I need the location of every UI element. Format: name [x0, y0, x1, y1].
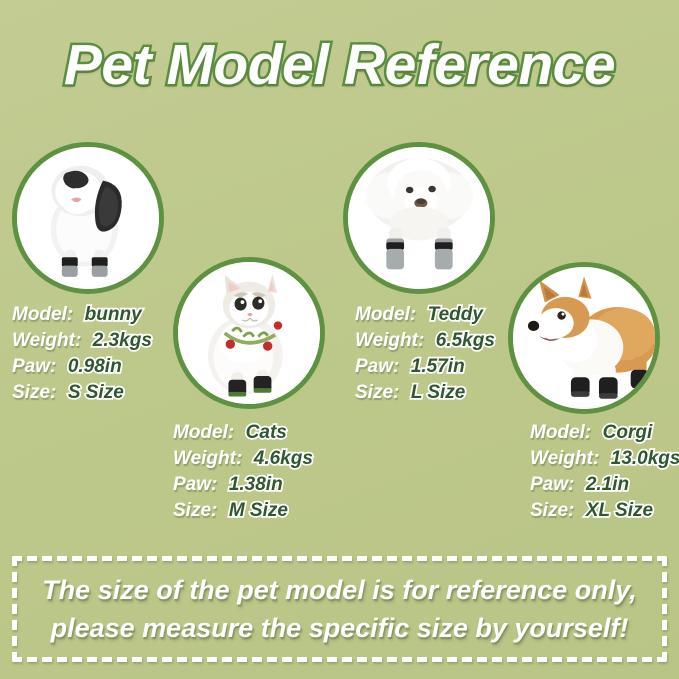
- spec-value-weight: 13.0kgs: [611, 446, 679, 472]
- pet-model-reference-infographic: Pet Model Reference: [0, 0, 679, 679]
- spec-label-size: Size:: [355, 380, 399, 406]
- disclaimer-line-1: The size of the pet model is for referen…: [42, 571, 637, 609]
- spec-row-paw: Paw: 2.1in: [530, 472, 679, 498]
- spec-value-paw: 0.98in: [68, 354, 122, 380]
- spec-block-teddy: Model: Teddy Weight: 6.5kgs Paw: 1.57in …: [355, 302, 565, 406]
- spec-label-size: Size:: [173, 498, 217, 524]
- disclaimer-note: The size of the pet model is for referen…: [12, 556, 667, 662]
- spec-label-paw: Paw:: [530, 472, 574, 498]
- spec-row-size: Size: S Size: [12, 380, 222, 406]
- spec-value-weight: 6.5kgs: [436, 328, 495, 354]
- spec-block-corgi: Model: Corgi Weight: 13.0kgs Paw: 2.1in …: [530, 420, 679, 524]
- spec-label-paw: Paw:: [355, 354, 399, 380]
- spec-value-model: bunny: [85, 302, 142, 328]
- spec-value-size: S Size: [68, 380, 124, 406]
- spec-block-bunny: Model: bunny Weight: 2.3kgs Paw: 0.98in …: [12, 302, 222, 406]
- spec-label-model: Model:: [355, 302, 416, 328]
- spec-block-cats: Model: Cats Weight: 4.6kgs Paw: 1.38in S…: [173, 420, 383, 524]
- spec-row-size: Size: XL Size: [530, 498, 679, 524]
- spec-row-weight: Weight: 6.5kgs: [355, 328, 565, 354]
- bunny-photo-icon: [17, 147, 159, 289]
- spec-row-model: Model: Corgi: [530, 420, 679, 446]
- spec-label-model: Model:: [173, 420, 234, 446]
- disclaimer-line-2: please measure the specific size by your…: [51, 609, 629, 647]
- spec-value-model: Teddy: [428, 302, 483, 328]
- spec-row-weight: Weight: 4.6kgs: [173, 446, 383, 472]
- spec-row-model: Model: Teddy: [355, 302, 565, 328]
- spec-value-size: L Size: [411, 380, 466, 406]
- spec-value-size: M Size: [229, 498, 288, 524]
- spec-label-size: Size:: [12, 380, 56, 406]
- spec-label-model: Model:: [530, 420, 591, 446]
- spec-label-weight: Weight:: [173, 446, 242, 472]
- pet-photo-bunny: [12, 142, 164, 294]
- spec-row-size: Size: M Size: [173, 498, 383, 524]
- spec-row-paw: Paw: 0.98in: [12, 354, 222, 380]
- teddy-dog-photo-icon: [348, 147, 490, 289]
- spec-label-weight: Weight:: [355, 328, 424, 354]
- spec-label-paw: Paw:: [12, 354, 56, 380]
- spec-label-weight: Weight:: [12, 328, 81, 354]
- spec-row-size: Size: L Size: [355, 380, 565, 406]
- spec-value-weight: 2.3kgs: [93, 328, 152, 354]
- spec-value-paw: 2.1in: [586, 472, 629, 498]
- spec-label-model: Model:: [12, 302, 73, 328]
- spec-row-weight: Weight: 2.3kgs: [12, 328, 222, 354]
- spec-label-size: Size:: [530, 498, 574, 524]
- spec-value-model: Corgi: [603, 420, 653, 446]
- spec-value-size: XL Size: [586, 498, 653, 524]
- page-title: Pet Model Reference: [0, 34, 679, 96]
- spec-row-model: Model: Cats: [173, 420, 383, 446]
- spec-label-paw: Paw:: [173, 472, 217, 498]
- pet-photo-teddy: [343, 142, 495, 294]
- spec-row-model: Model: bunny: [12, 302, 222, 328]
- spec-row-paw: Paw: 1.57in: [355, 354, 565, 380]
- spec-value-paw: 1.57in: [411, 354, 465, 380]
- spec-row-paw: Paw: 1.38in: [173, 472, 383, 498]
- spec-value-weight: 4.6kgs: [254, 446, 313, 472]
- spec-value-paw: 1.38in: [229, 472, 283, 498]
- spec-row-weight: Weight: 13.0kgs: [530, 446, 679, 472]
- spec-label-weight: Weight:: [530, 446, 599, 472]
- spec-value-model: Cats: [246, 420, 287, 446]
